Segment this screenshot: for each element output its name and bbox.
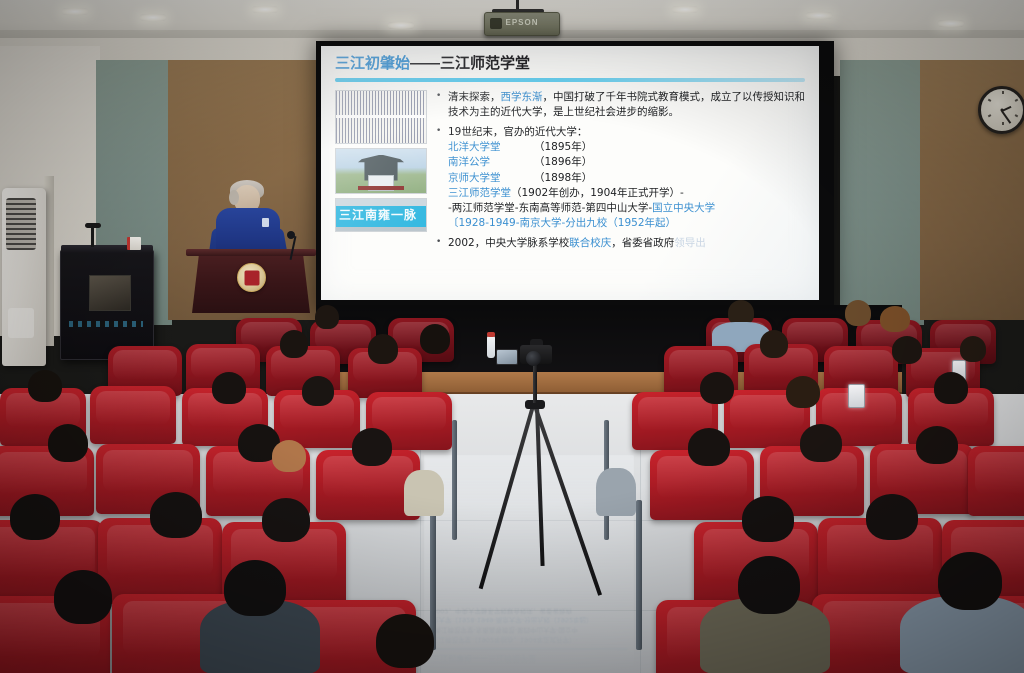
audience-head <box>315 305 339 329</box>
projection-screen-frame: 三江初肇始——三江师范学堂 三江南雍一脉 <box>316 41 834 315</box>
historical-document-scan-icon <box>335 90 427 144</box>
audience-shoulders <box>596 468 636 516</box>
audience-head <box>224 560 286 616</box>
aisle-handrail <box>636 500 642 650</box>
camera-monitor-screen <box>496 349 518 365</box>
bullet-2-lead: 19世纪末，官办的近代大学： <box>448 125 807 140</box>
audience-head <box>960 336 986 362</box>
audience-shoulders <box>404 470 444 516</box>
ceiling-downlight <box>672 6 698 13</box>
reflection-line: 央大学〔1928-1949-南京大学-分出九校（1952年起） <box>432 615 628 625</box>
presentation-slide: 三江初肇始——三江师范学堂 三江南雍一脉 <box>321 46 819 300</box>
audience-head <box>48 424 88 462</box>
slide-body: 三江南雍一脉 • 清末探索，西学东渐，中国打破了千年书院式教育模式，成立了以传授… <box>335 90 807 257</box>
paper-cup <box>127 237 141 250</box>
wall-clock <box>978 86 1024 134</box>
aisle-handrail <box>452 420 457 540</box>
auditorium-seat <box>968 446 1024 516</box>
audience-head <box>916 426 958 464</box>
audience-head <box>934 372 968 404</box>
air-conditioner-grille <box>6 198 36 250</box>
lineage-body: -两江师范学堂-东南高等师范-第四中山大学- <box>448 202 652 214</box>
audience-head <box>738 556 800 614</box>
slide-title-highlight: 三江初肇始 <box>335 55 410 72</box>
audience-head <box>150 492 202 538</box>
audience-head <box>742 496 794 542</box>
podium-university-crest-icon <box>237 263 266 292</box>
ceiling-projector: EPSON <box>484 12 560 36</box>
water-bottle-cap <box>487 332 495 337</box>
lineage-line-1: 三江师范学堂（1902年创办，1904年正式开学）- <box>448 186 807 201</box>
speaker-hair-side <box>229 190 239 205</box>
audience-head <box>880 306 910 332</box>
floor-air-conditioner <box>2 188 46 366</box>
bullet-dot-icon: • <box>436 125 448 232</box>
slide-bullet-2: • 19世纪末，官办的近代大学： 北洋大学堂 （1895年） 南洋公学 （189… <box>436 125 807 232</box>
reflection-line: -两江师范学堂-东南高等师范-第四中山大学-国立中 <box>432 625 628 635</box>
audience-head <box>262 498 310 542</box>
bullet-dot-icon: • <box>436 90 448 120</box>
ceiling-downlight <box>806 12 832 19</box>
bullet-1-seg-0: 清末探索， <box>448 91 501 103</box>
slide-title-rest: ——三江师范学堂 <box>410 55 530 72</box>
slide-title-underline <box>335 78 805 82</box>
university-row: 南洋公学 （1896年） <box>448 155 807 170</box>
university-row: 京师大学堂 （1898年） <box>448 171 807 186</box>
ceiling-downlight <box>140 14 166 21</box>
audience-head <box>352 428 392 466</box>
smartphone <box>848 384 865 408</box>
audience-head <box>938 552 1002 610</box>
bullet-1-seg-1: 西学东渐 <box>501 91 543 103</box>
slide-bullet-1: • 清末探索，西学东渐，中国打破了千年书院式教育模式，成立了以传授知识和技术为主… <box>436 90 807 120</box>
audience-head <box>302 376 334 406</box>
av-equipment-rack <box>60 250 154 360</box>
university-row: 北洋大学堂 （1895年） <box>448 140 807 155</box>
audience-head <box>892 336 922 364</box>
clock-center-pin <box>1001 109 1004 112</box>
camera-lens-icon <box>526 351 541 366</box>
ceiling-downlight <box>62 8 88 15</box>
audience-head <box>845 300 871 326</box>
banner-calligraphy-text: 三江南雍一脉 <box>339 206 425 223</box>
audience-head <box>54 570 112 624</box>
audience-head <box>212 372 246 404</box>
bullet-3-seg-1: 联合校庆 <box>569 237 611 249</box>
audience-head <box>688 428 730 466</box>
audience-head <box>280 330 308 358</box>
audience-head <box>866 494 918 540</box>
rack-microphone-stem <box>91 225 94 247</box>
bullet-3-seg-2: ，省委省政府 <box>611 237 674 249</box>
slide-bullet-3: • 2002，中央大学脉系学校联合校庆，省委省政府领导出 <box>436 236 807 251</box>
ceiling-downlight <box>252 6 278 13</box>
reflection-title: 三江初肇始——三江师范学堂 <box>432 653 628 664</box>
university-name: 南洋公学 <box>448 155 534 170</box>
reflection-line: 2002，中央大学脉系学校联合校庆，省委省政府 <box>432 605 628 615</box>
audience-head <box>376 614 434 668</box>
auditorium-seat <box>90 386 176 444</box>
audience-head <box>786 376 820 408</box>
audience-head <box>800 424 842 462</box>
audience-head <box>700 372 734 404</box>
podium-top-surface <box>186 249 316 256</box>
lineage-head: 三江师范学堂 <box>448 187 511 199</box>
projector-brand-label: EPSON <box>485 18 559 27</box>
audience-head <box>368 334 398 364</box>
bullet-dot-icon: • <box>436 236 448 251</box>
projection-screen: 三江初肇始——三江师范学堂 三江南雍一脉 <box>321 46 819 300</box>
ceiling-downlight <box>938 20 964 27</box>
ceiling-downlight <box>388 22 414 29</box>
podium-microphone-head <box>287 231 295 239</box>
air-conditioner-panel <box>8 308 34 338</box>
university-name: 北洋大学堂 <box>448 140 534 155</box>
university-name: 京师大学堂 <box>448 171 534 186</box>
lineage-head-year: （1902年创办，1904年正式开学）- <box>511 187 684 199</box>
audience-head <box>272 440 306 472</box>
lineage-line-2: -两江师范学堂-东南高等师范-第四中山大学-国立中央大学 <box>448 201 807 216</box>
rack-monitor <box>89 275 131 311</box>
reflection-line: 三江师范学堂（1902年创办，1904年正式开学）- <box>432 634 628 644</box>
water-bottle <box>487 336 495 358</box>
audience-head <box>28 370 62 402</box>
bullet-3-seg-3: 领导出 <box>674 237 706 249</box>
lecture-hall-photo: EPSON 三江初肇始——三江师范学堂 <box>0 0 1024 673</box>
tripod-center-column <box>533 363 537 403</box>
lineage-body-highlight: 国立中央大学 <box>652 202 715 214</box>
aisle-handrail <box>430 500 436 650</box>
audience-head <box>420 324 450 354</box>
slide-image-column: 三江南雍一脉 <box>335 90 427 257</box>
blue-banner-photo: 三江南雍一脉 <box>335 198 427 232</box>
speaker-name-badge <box>262 218 269 227</box>
university-year: （1895年） <box>534 140 592 155</box>
rack-indicator-lights <box>69 321 143 327</box>
lineage-line-3: 〔1928-1949-南京大学-分出九校（1952年起） <box>448 216 807 231</box>
bullet-3-seg-0: 2002，中央大学脉系学校 <box>448 237 569 249</box>
university-year: （1898年） <box>534 171 592 186</box>
slide-bullet-list: • 清末探索，西学东渐，中国打破了千年书院式教育模式，成立了以传授知识和技术为主… <box>427 90 807 257</box>
audience-head <box>10 494 60 540</box>
green-wall-panel-right <box>840 60 924 325</box>
monument-base <box>358 186 405 190</box>
slide-title: 三江初肇始——三江师范学堂 <box>335 56 807 73</box>
stone-monument-photo <box>335 148 427 194</box>
audience-head <box>760 330 788 358</box>
university-year: （1896年） <box>534 155 592 170</box>
